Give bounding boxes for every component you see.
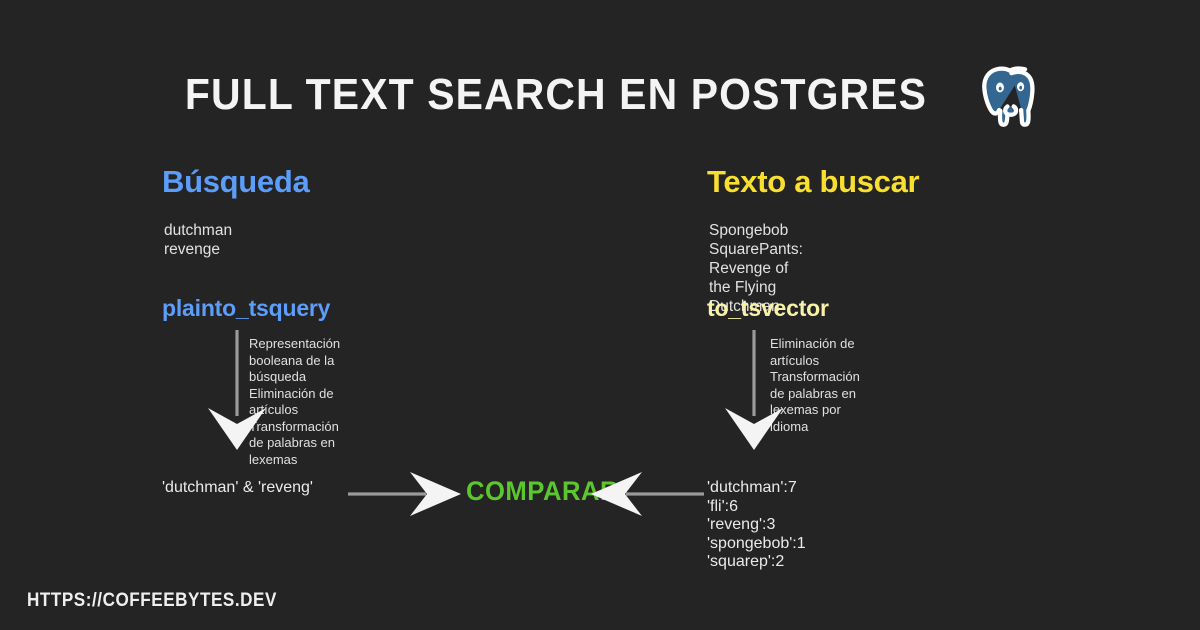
page-title: Full Text Search en Postgres — [185, 70, 927, 120]
footer-url[interactable]: https://coffeebytes.dev — [27, 590, 277, 612]
plainto-tsquery-label: plainto_tsquery — [162, 295, 330, 322]
left-column-body: dutchman revenge — [164, 221, 232, 259]
compare-arrow-left-icon — [588, 468, 704, 520]
slide-canvas: Full Text Search en Postgres Búsqueda du… — [0, 0, 1200, 630]
left-down-arrow-icon — [205, 330, 269, 452]
tsvector-result-list: 'dutchman':7 'fli':6 'reveng':3 'spongeb… — [707, 479, 806, 572]
tsquery-result: 'dutchman' & 'reveng' — [162, 479, 313, 497]
compare-arrow-right-icon — [348, 468, 464, 520]
left-column-heading: Búsqueda — [162, 164, 309, 200]
to-tsvector-label: to_tsvector — [707, 295, 829, 322]
list-item: 'fli':6 — [707, 498, 806, 517]
list-item: 'reveng':3 — [707, 516, 806, 535]
title-row: Full Text Search en Postgres — [0, 62, 1200, 128]
list-item: 'spongebob':1 — [707, 535, 806, 554]
list-item: 'squarep':2 — [707, 553, 806, 572]
right-down-arrow-icon — [722, 330, 786, 452]
postgresql-elephant-icon — [981, 62, 1043, 128]
right-column-heading: Texto a buscar — [707, 164, 919, 200]
list-item: 'dutchman':7 — [707, 479, 806, 498]
